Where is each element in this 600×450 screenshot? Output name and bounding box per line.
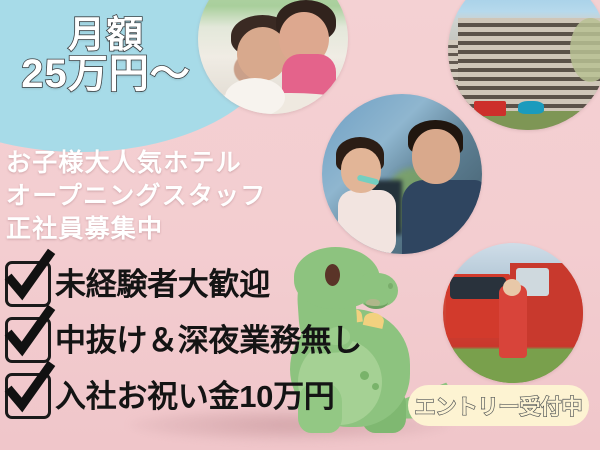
checklist-item-label: 中抜け＆深夜業務無し bbox=[55, 325, 362, 356]
checkbox-checked-icon bbox=[5, 261, 51, 307]
headline-block: 月額 25万円〜 bbox=[0, 16, 212, 96]
headline-line-1: 月額 bbox=[0, 16, 212, 54]
recruitment-banner: 月額 25万円〜 お子様大人気ホテル オープニングスタッフ 正社員募集中 未経験… bbox=[0, 0, 600, 450]
checklist-item-label: 入社お祝い金10万円 bbox=[55, 381, 334, 412]
checkbox-checked-icon bbox=[5, 317, 51, 363]
checklist-item: 未経験者大歓迎 bbox=[5, 256, 385, 312]
checklist-item: 中抜け＆深夜業務無し bbox=[5, 312, 385, 368]
benefits-checklist: 未経験者大歓迎 中抜け＆深夜業務無し 入社お祝い金10万円 bbox=[5, 256, 385, 424]
subheadline-line-1: お子様大人気ホテル bbox=[6, 147, 366, 180]
checklist-item-label: 未経験者大歓迎 bbox=[55, 269, 270, 300]
photo-fire-truck-mascot bbox=[443, 243, 583, 383]
headline-line-2: 25万円〜 bbox=[0, 54, 212, 96]
checklist-item: 入社お祝い金10万円 bbox=[5, 368, 385, 424]
checkbox-checked-icon bbox=[5, 373, 51, 419]
dino-nostril bbox=[388, 283, 393, 289]
subheadline-line-2: オープニングスタッフ bbox=[6, 180, 366, 213]
entry-status-badge[interactable]: エントリー受付中 bbox=[408, 385, 589, 426]
subheadline-block: お子様大人気ホテル オープニングスタッフ 正社員募集中 bbox=[6, 147, 366, 246]
entry-status-badge-label: エントリー受付中 bbox=[415, 391, 583, 421]
subheadline-line-3: 正社員募集中 bbox=[6, 213, 366, 246]
